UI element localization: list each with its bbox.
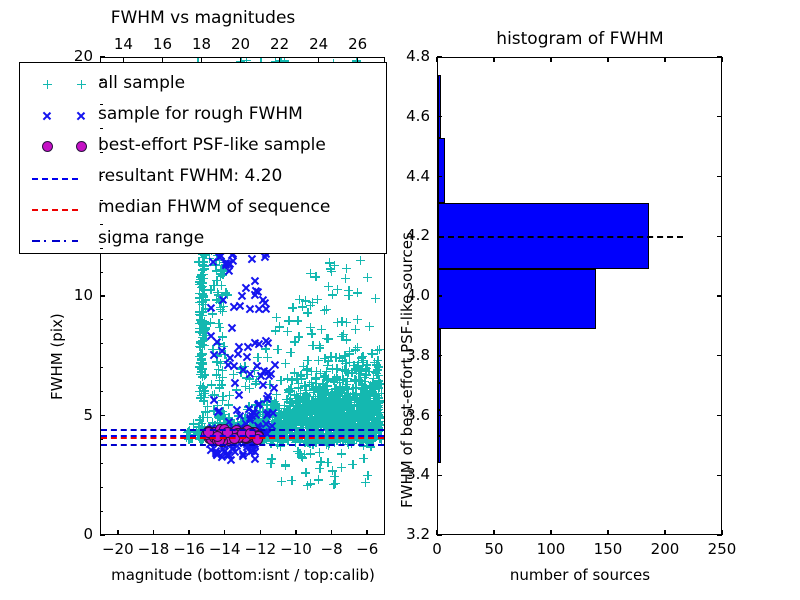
legend-marker [36, 69, 58, 100]
scatter-point-all-sample [206, 318, 215, 327]
scatter-point-all-sample [337, 449, 346, 458]
scatter-point-all-sample [298, 402, 307, 411]
legend-line-sample [32, 178, 78, 180]
histogram-ytick-right [717, 415, 722, 416]
scatter-point-all-sample [197, 307, 206, 316]
scatter-point-all-sample [196, 338, 205, 347]
scatter-point-rough-fwhm [213, 406, 223, 416]
scatter-point-rough-fwhm [245, 369, 255, 379]
scatter-point-rough-fwhm [253, 287, 263, 297]
scatter-point-all-sample [218, 373, 227, 382]
scatter-xticklabel: −20 [102, 540, 134, 558]
scatter-top-xticklabel: 20 [231, 35, 250, 53]
scatter-point-all-sample [306, 323, 315, 332]
scatter-ytick-minor [100, 439, 103, 440]
scatter-point-all-sample [345, 347, 354, 356]
scatter-point-all-sample [325, 258, 334, 267]
histogram-bar [438, 329, 440, 356]
scatter-top-xtick [201, 57, 202, 62]
scatter-xticklabel: −10 [280, 540, 312, 558]
scatter-point-all-sample [329, 405, 338, 414]
scatter-refline-2 [101, 429, 383, 431]
legend-line-sample [32, 209, 78, 211]
scatter-point-all-sample [287, 476, 296, 485]
scatter-top-xtick [318, 57, 319, 62]
scatter-point-rough-fwhm [251, 410, 261, 420]
scatter-point-rough-fwhm [263, 338, 273, 348]
scatter-ylabel: FWHM (pix) [48, 313, 66, 400]
scatter-point-all-sample [353, 315, 362, 324]
scatter-point-all-sample [290, 337, 299, 346]
histogram-ytick-right [717, 475, 722, 476]
histogram-bar [438, 383, 440, 410]
scatter-xtick [331, 530, 332, 535]
scatter-point-all-sample [285, 386, 294, 395]
histogram-ytick-right [717, 355, 722, 356]
histogram-xticklabel: 100 [537, 540, 566, 558]
scatter-point-all-sample [217, 281, 226, 290]
scatter-point-all-sample [323, 361, 332, 370]
scatter-point-all-sample [353, 343, 362, 352]
histogram-ytick-right [717, 295, 722, 296]
scatter-point-rough-fwhm [222, 450, 232, 460]
legend-label: best-effort PSF-like sample [98, 135, 326, 155]
histogram-xtick-top [493, 57, 494, 62]
histogram-ytick-right [717, 56, 722, 57]
scatter-ytick [100, 56, 105, 57]
scatter-point-all-sample [365, 322, 374, 331]
scatter-point-all-sample [376, 380, 383, 389]
scatter-point-all-sample [341, 274, 350, 283]
histogram-yticklabel: 3.6 [406, 406, 430, 424]
scatter-ytick-minor [100, 319, 103, 320]
scatter-point-rough-fwhm [262, 391, 272, 401]
scatter-top-xtick [357, 57, 358, 62]
scatter-yticklabel: 0 [83, 525, 93, 543]
scatter-point-all-sample [218, 307, 227, 316]
scatter-ytick-minor [100, 367, 103, 368]
scatter-xtick [260, 530, 261, 535]
scatter-point-rough-fwhm [270, 360, 280, 370]
scatter-point-all-sample [363, 273, 372, 282]
scatter-point-all-sample [198, 349, 207, 358]
histogram-bar [438, 356, 440, 383]
legend-box: all samplesample for rough FWHMbest-effo… [19, 62, 387, 254]
scatter-point-all-sample [325, 420, 334, 429]
scatter-yticklabel: 10 [74, 286, 93, 304]
scatter-point-all-sample [306, 269, 315, 278]
scatter-point-all-sample [329, 376, 338, 385]
legend-marker [36, 100, 58, 131]
scatter-point-all-sample [281, 461, 290, 470]
scatter-point-all-sample [343, 377, 352, 386]
x-marker [42, 111, 52, 121]
scatter-point-all-sample [296, 371, 305, 380]
scatter-top-xticklabel: 22 [270, 35, 289, 53]
scatter-ytick-minor [100, 272, 103, 273]
scatter-point-all-sample [314, 475, 323, 484]
scatter-point-all-sample [197, 367, 206, 376]
scatter-point-rough-fwhm [217, 295, 227, 305]
scatter-point-all-sample [212, 266, 221, 275]
scatter-ytick-minor [100, 463, 103, 464]
legend-entry[interactable]: resultant FWHM: 4.20 [20, 162, 386, 193]
scatter-point-all-sample [267, 454, 276, 463]
histogram-ytick [437, 295, 442, 296]
scatter-point-rough-fwhm [253, 400, 263, 410]
legend-marker [36, 131, 58, 162]
legend-entry[interactable]: all sample [20, 69, 386, 100]
scatter-point-all-sample [369, 401, 378, 410]
histogram-ytick [437, 415, 442, 416]
scatter-xtick [188, 530, 189, 535]
scatter-point-all-sample [315, 448, 324, 457]
x-marker [76, 111, 86, 121]
scatter-point-all-sample [272, 313, 281, 322]
legend-entry[interactable]: sample for rough FWHM [20, 100, 386, 131]
scatter-point-all-sample [324, 282, 333, 291]
scatter-ytick-minor [100, 176, 103, 177]
scatter-point-all-sample [344, 286, 353, 295]
scatter-xtick [224, 530, 225, 535]
scatter-point-rough-fwhm [212, 450, 222, 460]
legend-marker [70, 69, 92, 100]
scatter-point-all-sample [307, 367, 316, 376]
scatter-point-all-sample [317, 325, 326, 334]
scatter-point-all-sample [333, 285, 342, 294]
scatter-point-rough-fwhm [212, 337, 222, 347]
legend-marker [70, 100, 92, 131]
histogram-xtick-top [436, 57, 437, 62]
circle-marker [42, 141, 53, 152]
scatter-ytick-minor [100, 152, 103, 153]
scatter-point-all-sample [301, 393, 310, 402]
scatter-xticklabel: −8 [321, 540, 343, 558]
scatter-top-xticklabel: 14 [114, 35, 133, 53]
histogram-xtick-top [721, 57, 722, 62]
scatter-xtick [153, 530, 154, 535]
scatter-xticklabel: −18 [138, 540, 170, 558]
scatter-point-rough-fwhm [260, 304, 270, 314]
scatter-ytick [100, 295, 105, 296]
histogram-yticklabel: 4.8 [406, 47, 430, 65]
scatter-point-all-sample [293, 316, 302, 325]
scatter-point-rough-fwhm [250, 276, 260, 286]
histogram-data-area [438, 58, 720, 533]
scatter-point-all-sample [337, 463, 346, 472]
scatter-point-all-sample [329, 480, 338, 489]
histogram-yticklabel: 3.4 [406, 465, 430, 483]
scatter-point-rough-fwhm [259, 366, 269, 376]
histogram-ytick [437, 176, 442, 177]
scatter-point-all-sample [348, 460, 357, 469]
histogram-yticklabel: 3.2 [406, 525, 430, 543]
histogram-ytick [437, 534, 442, 535]
scatter-point-rough-fwhm [237, 291, 247, 301]
scatter-refline-1 [101, 437, 383, 439]
scatter-point-all-sample [277, 477, 286, 486]
legend-label: sigma range [98, 228, 204, 248]
scatter-ytick [100, 534, 105, 535]
scatter-xticklabel: −12 [244, 540, 276, 558]
scatter-point-all-sample [281, 359, 290, 368]
scatter-top-xtick [123, 57, 124, 62]
histogram-xticklabel: 250 [708, 540, 737, 558]
histogram-xtick-top [664, 57, 665, 62]
scatter-point-all-sample [342, 335, 351, 344]
legend-entry[interactable]: sigma range [20, 224, 386, 255]
histogram-xtick [550, 530, 551, 535]
scatter-point-all-sample [371, 294, 380, 303]
scatter-point-rough-fwhm [209, 395, 219, 405]
histogram-ytick-right [717, 176, 722, 177]
scatter-point-all-sample [332, 364, 341, 373]
scatter-point-all-sample [195, 277, 204, 286]
scatter-point-all-sample [288, 303, 297, 312]
scatter-point-rough-fwhm [242, 352, 252, 362]
scatter-xtick [295, 530, 296, 535]
legend-label: resultant FWHM: 4.20 [98, 166, 282, 186]
histogram-ytick [437, 56, 442, 57]
scatter-point-all-sample [280, 404, 289, 413]
histogram-refline [438, 236, 683, 238]
scatter-point-all-sample [286, 348, 295, 357]
histogram-bar [438, 436, 440, 463]
histogram-title: histogram of FWHM [496, 29, 663, 49]
legend-line-sample [32, 240, 78, 242]
scatter-point-all-sample [195, 298, 204, 307]
scatter-point-all-sample [351, 325, 360, 334]
scatter-point-all-sample [225, 391, 234, 400]
histogram-bar [438, 138, 445, 204]
scatter-ytick-minor [100, 391, 103, 392]
scatter-point-rough-fwhm [247, 254, 257, 264]
scatter-yticklabel: 5 [83, 406, 93, 424]
legend-marker [70, 131, 92, 162]
scatter-top-xticklabel: 26 [348, 35, 367, 53]
scatter-xticklabel: −16 [173, 540, 205, 558]
scatter-point-all-sample [313, 412, 322, 421]
scatter-point-all-sample [198, 358, 207, 367]
scatter-point-all-sample [324, 334, 333, 343]
scatter-top-xtick [240, 57, 241, 62]
histogram-xtick [607, 530, 608, 535]
scatter-ytick-minor [100, 248, 103, 249]
figure-canvas: FWHM vs magnitudes magnitude (bottom:isn… [0, 0, 800, 600]
scatter-point-rough-fwhm [250, 338, 260, 348]
scatter-point-all-sample [301, 296, 310, 305]
scatter-top-xticklabel: 18 [192, 35, 211, 53]
histogram-yticklabel: 4.4 [406, 167, 430, 185]
legend-entry[interactable]: median FHWM of sequence [20, 193, 386, 224]
histogram-xtick [493, 530, 494, 535]
scatter-xticklabel: −14 [209, 540, 241, 558]
scatter-ytick [100, 415, 105, 416]
scatter-point-rough-fwhm [216, 346, 226, 356]
histogram-yticklabel: 4.6 [406, 107, 430, 125]
scatter-point-all-sample [322, 305, 331, 314]
scatter-point-rough-fwhm [262, 408, 272, 418]
scatter-point-all-sample [315, 343, 324, 352]
scatter-point-rough-fwhm [244, 304, 254, 314]
scatter-top-xtick [162, 57, 163, 62]
scatter-point-all-sample [283, 327, 292, 336]
scatter-point-all-sample [328, 466, 337, 475]
histogram-bar [438, 75, 440, 138]
histogram-ytick [437, 475, 442, 476]
scatter-ytick-minor [100, 104, 103, 105]
scatter-point-all-sample [373, 356, 382, 365]
scatter-top-xticklabel: 16 [153, 35, 172, 53]
histogram-bar [438, 410, 440, 437]
legend-entry[interactable]: best-effort PSF-like sample [20, 131, 386, 162]
histogram-xticklabel: 150 [594, 540, 623, 558]
scatter-point-all-sample [353, 288, 362, 297]
scatter-point-all-sample [342, 318, 351, 327]
scatter-point-all-sample [303, 356, 312, 365]
scatter-point-all-sample [284, 316, 293, 325]
scatter-point-all-sample [314, 356, 323, 365]
scatter-point-all-sample [273, 345, 282, 354]
scatter-ytick-minor [100, 511, 103, 512]
histogram-ytick [437, 355, 442, 356]
histogram-ytick-right [717, 534, 722, 535]
scatter-top-xtick [279, 57, 280, 62]
scatter-point-all-sample [214, 319, 223, 328]
scatter-point-rough-fwhm [227, 323, 237, 333]
histogram-xtick-top [550, 57, 551, 62]
histogram-bar [438, 269, 595, 329]
scatter-point-rough-fwhm [257, 380, 267, 390]
scatter-ytick-minor [100, 128, 103, 129]
scatter-ytick-minor [100, 200, 103, 201]
histogram-xticklabel: 200 [651, 540, 680, 558]
circle-marker [76, 141, 87, 152]
histogram-xlabel: number of sources [510, 566, 650, 584]
scatter-point-rough-fwhm [234, 390, 244, 400]
scatter-refline-3 [101, 444, 383, 446]
histogram-yticklabel: 4.0 [406, 286, 430, 304]
scatter-point-all-sample [359, 454, 368, 463]
histogram-xticklabel: 50 [484, 540, 503, 558]
scatter-point-all-sample [356, 256, 365, 265]
scatter-point-all-sample [306, 479, 315, 488]
histogram-xtick [664, 530, 665, 535]
scatter-point-all-sample [363, 471, 372, 480]
histogram-ytick [437, 116, 442, 117]
scatter-point-all-sample [342, 264, 351, 273]
legend-label: sample for rough FWHM [98, 104, 303, 124]
histogram-xtick-top [607, 57, 608, 62]
scatter-ytick-minor [100, 224, 103, 225]
plus-marker [77, 80, 86, 89]
scatter-point-all-sample [298, 411, 307, 420]
histogram-yticklabel: 4.2 [406, 226, 430, 244]
histogram-ytick [437, 236, 442, 237]
plus-marker [43, 80, 52, 89]
scatter-point-rough-fwhm [230, 378, 240, 388]
scatter-xtick [366, 530, 367, 535]
legend-label: all sample [98, 73, 185, 93]
scatter-ytick-minor [100, 487, 103, 488]
scatter-xtick [117, 530, 118, 535]
scatter-point-rough-fwhm [206, 303, 216, 313]
scatter-point-all-sample [345, 406, 354, 415]
scatter-xticklabel: −6 [356, 540, 378, 558]
legend-label: median FHWM of sequence [98, 197, 330, 217]
scatter-point-all-sample [358, 356, 367, 365]
scatter-point-all-sample [301, 468, 310, 477]
scatter-title: FWHM vs magnitudes [111, 8, 296, 28]
histogram-ytick-right [717, 236, 722, 237]
scatter-point-rough-fwhm [223, 259, 233, 269]
scatter-xlabel: magnitude (bottom:isnt / top:calib) [111, 566, 375, 584]
histogram-xticklabel: 0 [432, 540, 442, 558]
scatter-point-all-sample [201, 407, 210, 416]
scatter-top-xticklabel: 24 [309, 35, 328, 53]
histogram-yticklabel: 3.8 [406, 346, 430, 364]
scatter-point-all-sample [295, 449, 304, 458]
scatter-ytick-minor [100, 80, 103, 81]
histogram-ytick-right [717, 116, 722, 117]
scatter-point-all-sample [360, 388, 369, 397]
scatter-point-all-sample [275, 322, 284, 331]
scatter-ytick-minor [100, 343, 103, 344]
scatter-yticklabel: 20 [74, 47, 93, 65]
